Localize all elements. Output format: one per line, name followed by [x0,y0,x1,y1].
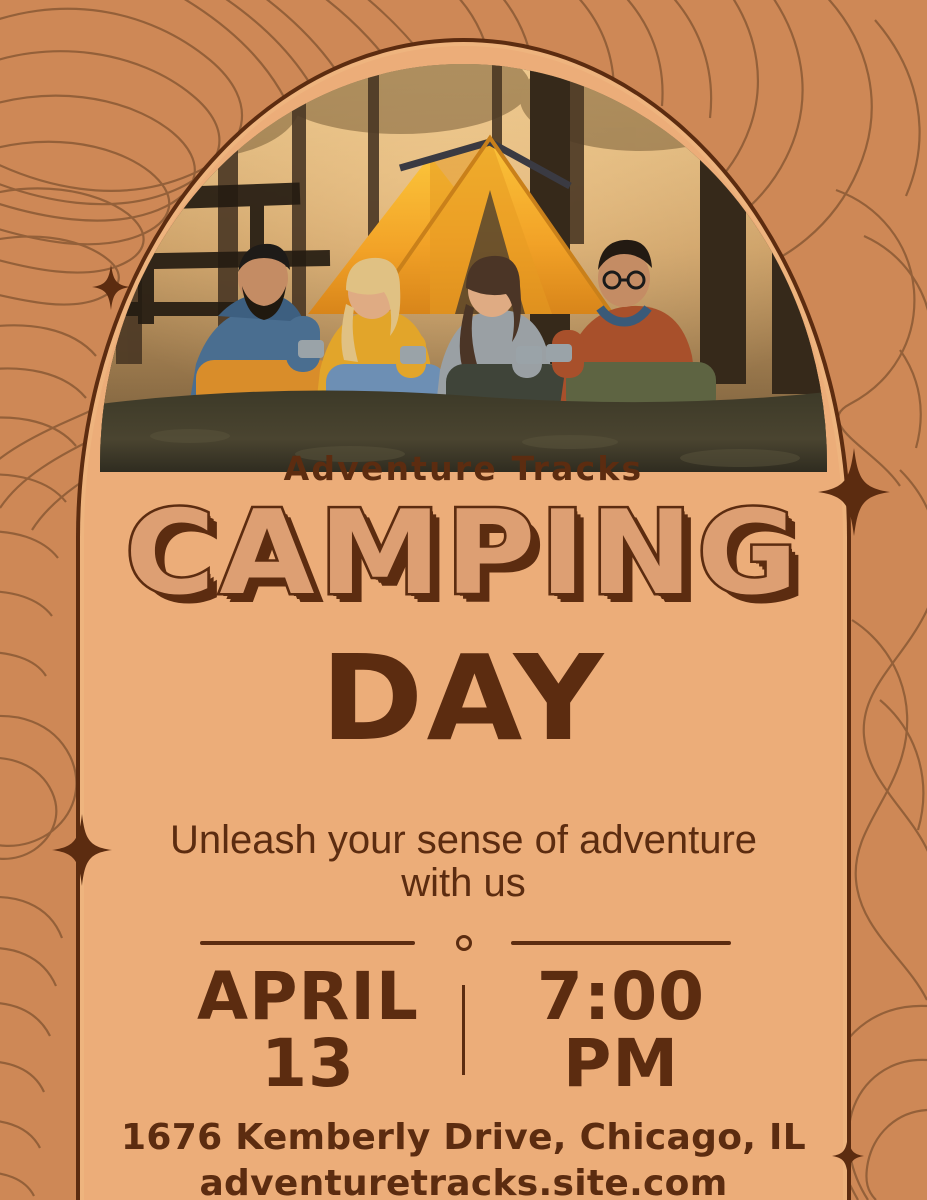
event-day: 13 [168,1030,448,1097]
tagline-line-2: with us [119,862,809,905]
address-website[interactable]: adventuretracks.site.com [84,1161,843,1200]
camping-photo-illustration [100,64,827,472]
divider-rule-left [200,941,415,945]
divider-vertical [462,985,465,1075]
tagline-line-1: Unleash your sense of adventure [119,819,809,862]
event-date: APRIL 13 [168,963,448,1098]
event-time-period: PM [481,1030,761,1097]
event-time: 7:00 PM [481,963,761,1098]
contact-block: 1676 Kemberly Drive, Chicago, IL adventu… [84,1115,843,1200]
date-time-block: APRIL 13 7:00 PM [84,941,843,1101]
divider-rule-right [511,941,731,945]
camping-day-poster: Adventure Tracks CAMPING DAY Unleash you… [0,0,927,1200]
event-month: APRIL [168,963,448,1030]
tagline: Unleash your sense of adventure with us [119,819,809,905]
title-camping: CAMPING [61,493,866,615]
event-time-value: 7:00 [481,963,761,1030]
title-day: DAY [65,639,862,757]
ring-dot-icon [456,935,472,951]
address-street: 1676 Kemberly Drive, Chicago, IL [84,1115,843,1161]
hero-photo [100,64,827,472]
title-primary-row: CAMPING [84,493,843,621]
poster-content: Adventure Tracks CAMPING DAY Unleash you… [84,452,843,1200]
brand-name: Adventure Tracks [84,452,843,485]
